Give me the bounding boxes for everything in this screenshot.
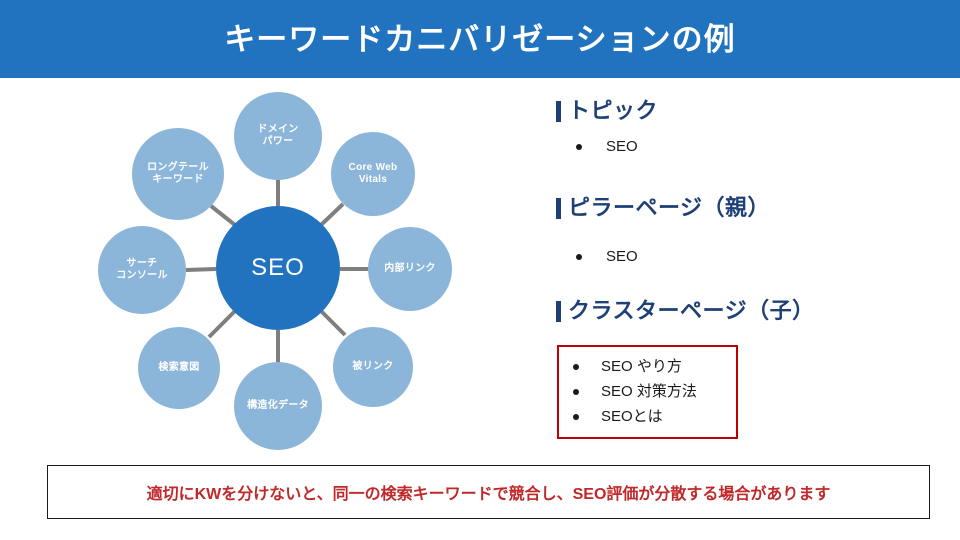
list-item-label: SEO — [606, 245, 638, 268]
slide-canvas: キーワードカニバリゼーションの例 ドメイン パワー Core Web Vital… — [0, 0, 960, 540]
bullet-dot-icon — [576, 144, 582, 150]
section-heading-label: トピック — [568, 100, 658, 122]
node-label: ロングテール キーワード — [144, 162, 212, 187]
diagram-node-core-web-vitals[interactable]: Core Web Vitals — [331, 132, 415, 216]
section-heading-label: ピラーページ（親） — [568, 197, 770, 219]
section-heading-label: クラスターページ（子） — [568, 300, 815, 322]
node-label: ドメイン パワー — [254, 124, 301, 149]
heading-bar-icon — [556, 301, 561, 322]
bullet-dot-icon — [573, 364, 579, 370]
list-item: SEO — [556, 245, 638, 268]
seo-hub-spoke-diagram: ドメイン パワー Core Web Vitals 内部リンク 被リンク 構造化デ… — [96, 86, 476, 456]
diagram-node-internal-link[interactable]: 内部リンク — [368, 227, 452, 311]
hub-label: SEO — [248, 254, 308, 282]
list-item: SEO やり方 — [559, 355, 736, 380]
section-heading-topic: トピック — [556, 100, 658, 122]
section-heading-pillar-page: ピラーページ（親） — [556, 197, 770, 219]
node-label: Core Web Vitals — [346, 162, 401, 187]
topic-bullet-list: SEO — [556, 135, 638, 158]
diagram-node-domain-power[interactable]: ドメイン パワー — [234, 92, 322, 180]
caption-box: 適切にKWを分けないと、同一の検索キーワードで競合し、SEO評価が分散する場合が… — [47, 465, 930, 519]
cluster-highlight-box: SEO やり方 SEO 対策方法 SEOとは — [557, 345, 738, 439]
list-item: SEOとは — [559, 405, 736, 430]
diagram-node-structured-data[interactable]: 構造化データ — [234, 362, 322, 450]
slide-header: キーワードカニバリゼーションの例 — [0, 0, 960, 78]
list-item: SEO 対策方法 — [559, 380, 736, 405]
caption-text: 適切にKWを分けないと、同一の検索キーワードで競合し、SEO評価が分散する場合が… — [147, 480, 831, 504]
list-item: SEO — [556, 135, 638, 158]
heading-bar-icon — [556, 198, 561, 219]
section-heading-cluster-page: クラスターページ（子） — [556, 300, 815, 322]
diagram-node-search-console[interactable]: サーチ コンソール — [98, 226, 186, 314]
list-item-label: SEO やり方 — [601, 355, 682, 380]
list-item-label: SEO 対策方法 — [601, 380, 697, 405]
node-label: 内部リンク — [381, 263, 439, 276]
cluster-bullet-list: SEO やり方 SEO 対策方法 SEOとは — [559, 355, 736, 429]
node-label: 被リンク — [349, 361, 396, 374]
diagram-node-search-intent[interactable]: 検索意図 — [138, 327, 220, 409]
pillar-bullet-list: SEO — [556, 245, 638, 268]
bullet-dot-icon — [573, 389, 579, 395]
bullet-dot-icon — [573, 414, 579, 420]
list-item-label: SEOとは — [601, 405, 663, 430]
node-label: 検索意図 — [155, 362, 202, 375]
diagram-node-backlink[interactable]: 被リンク — [333, 327, 413, 407]
diagram-node-long-tail-keyword[interactable]: ロングテール キーワード — [132, 128, 224, 220]
list-item-label: SEO — [606, 135, 638, 158]
bullet-dot-icon — [576, 254, 582, 260]
node-label: サーチ コンソール — [113, 258, 171, 283]
diagram-node-seo-hub[interactable]: SEO — [216, 206, 340, 330]
node-label: 構造化データ — [244, 400, 312, 413]
heading-bar-icon — [556, 101, 561, 122]
page-title: キーワードカニバリゼーションの例 — [224, 24, 735, 55]
